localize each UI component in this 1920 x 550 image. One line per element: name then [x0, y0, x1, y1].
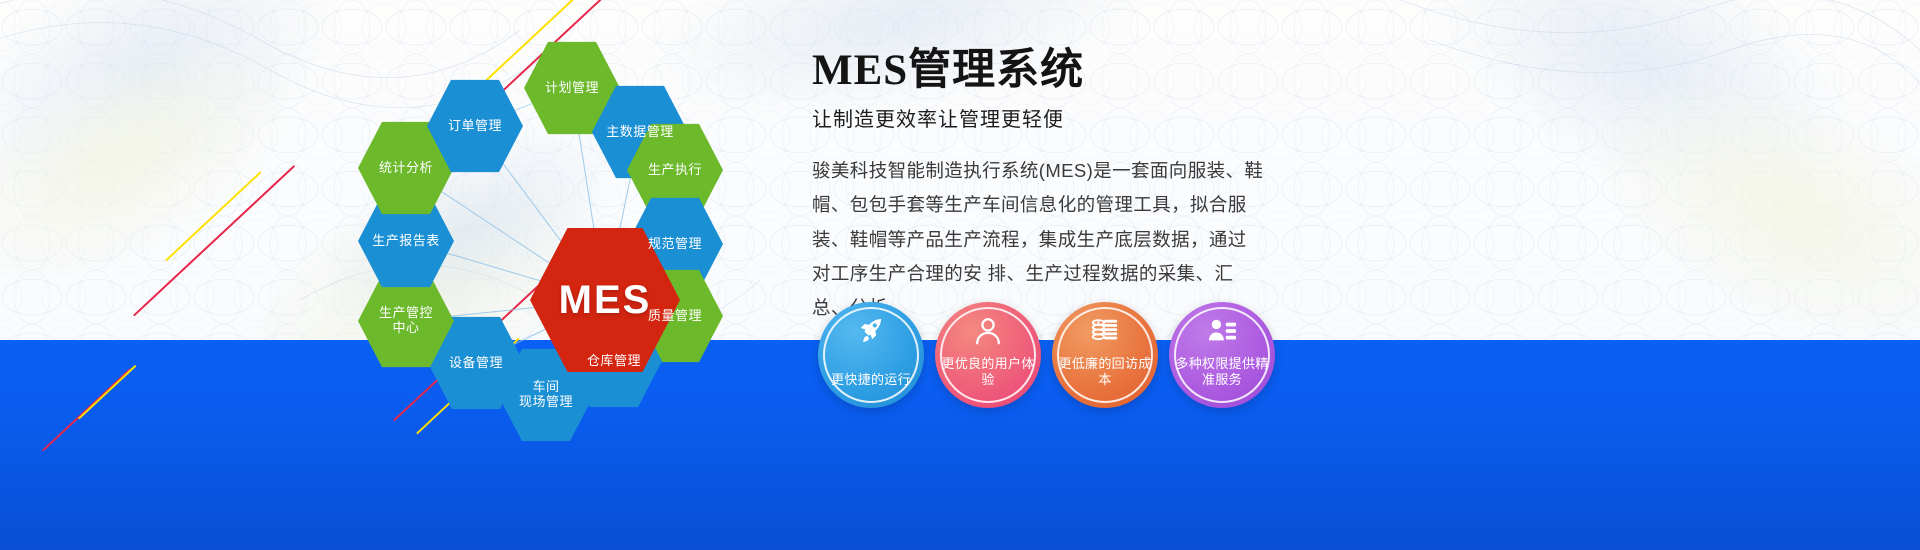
hex-node-12[interactable]: 订单管理 [427, 78, 523, 174]
feature-badge-3[interactable]: ¥更低廉的回访成本 [1052, 302, 1158, 408]
badge-label: 多种权限提供精准服务 [1175, 356, 1269, 409]
page-subtitle: 让制造更效率让管理更轻便 [812, 103, 1282, 132]
coins-icon: ¥ [1090, 316, 1120, 346]
hexagon-label: 计划管理 [541, 81, 603, 96]
feature-badge-1[interactable]: 更快捷的运行 [818, 302, 924, 408]
hexagon-label: 设备管理 [445, 356, 507, 371]
hexagon-label: 生产执行 [644, 163, 706, 178]
hexagon-label: 订单管理 [444, 119, 506, 134]
hero-text-column: MES管理系统 让制造更效率让管理更轻便 骏美科技智能制造执行系统(MES)是一… [812, 48, 1282, 325]
feature-badge-list: 更快捷的运行更优良的用户体验¥更低廉的回访成本多种权限提供精准服务 [818, 302, 1275, 408]
page-title: MES管理系统 [812, 48, 1282, 93]
hexagon-label: MES [555, 277, 656, 323]
rocket-icon [856, 316, 886, 346]
hexagon-label: 主数据管理 [602, 125, 678, 140]
hexagon-label: 规范管理 [644, 237, 706, 252]
hexagon-label: 车间现场管理 [515, 380, 577, 410]
hexagon-label: 生产管控中心 [375, 306, 437, 336]
user-icon [973, 316, 1003, 346]
badge-label: 更低廉的回访成本 [1058, 356, 1152, 409]
feature-badge-2[interactable]: 更优良的用户体验 [935, 302, 1041, 408]
feature-badge-4[interactable]: 多种权限提供精准服务 [1169, 302, 1275, 408]
badge-label: 更快捷的运行 [824, 372, 918, 408]
hexagon-label: 生产报告表 [368, 234, 444, 249]
banner-stage: 计划管理主数据管理生产执行规范管理质量管理仓库管理车间现场管理设备管理生产管控中… [0, 0, 1920, 550]
hexagon-label: 统计分析 [375, 161, 437, 176]
hero-description: 骏美科技智能制造执行系统(MES)是一套面向服装、鞋帽、包包手套等生产车间信息化… [812, 154, 1264, 325]
hexagon-label: 仓库管理 [583, 354, 645, 369]
roster-icon [1207, 316, 1237, 346]
svg-text:¥: ¥ [1097, 319, 1101, 326]
mes-hexagon-diagram: 计划管理主数据管理生产执行规范管理质量管理仓库管理车间现场管理设备管理生产管控中… [330, 10, 780, 440]
badge-label: 更优良的用户体验 [941, 356, 1035, 409]
